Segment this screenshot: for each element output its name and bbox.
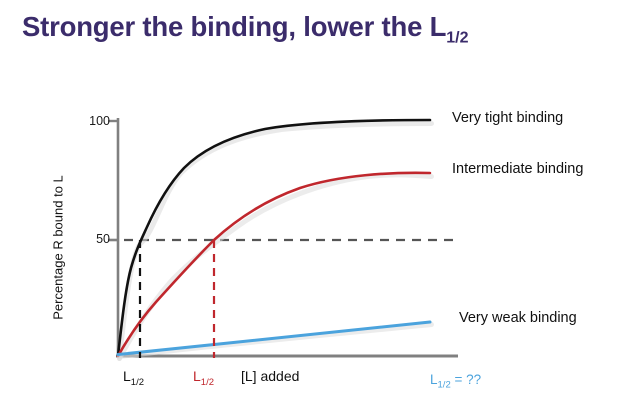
- weak-binding-curve: [118, 322, 430, 355]
- weak-binding-lhalf-subscript: 1/2: [438, 380, 451, 391]
- slide-canvas: Stronger the binding, lower the L1/2: [0, 0, 644, 414]
- intermediate-binding-lhalf-label: L1/2: [193, 368, 214, 388]
- x-axis-title: [L] added: [241, 368, 299, 384]
- weak-binding-lhalf-value: = ??: [451, 372, 481, 387]
- tight-binding-lhalf-label: L1/2: [123, 368, 144, 388]
- intermediate-binding-lhalf-subscript: 1/2: [201, 377, 214, 388]
- legend-label-very-weak-binding: Very weak binding: [459, 310, 577, 326]
- y-axis-tick-label-50: 50: [74, 232, 110, 246]
- tight-binding-lhalf-letter: L: [123, 368, 131, 384]
- y-axis-tick-label-100: 100: [74, 114, 110, 128]
- legend-label-intermediate-binding: Intermediate binding: [452, 161, 583, 177]
- y-axis-title: Percentage R bound to L: [51, 148, 66, 348]
- tight-binding-lhalf-subscript: 1/2: [131, 377, 144, 388]
- weak-binding-lhalf-label: L1/2 = ??: [430, 372, 481, 391]
- chart-plot-area: [0, 0, 644, 414]
- weak-binding-lhalf-letter: L: [430, 372, 438, 387]
- weak-binding-curve-shadow: [120, 325, 432, 357]
- intermediate-binding-lhalf-letter: L: [193, 368, 201, 384]
- tight-binding-curve: [118, 120, 430, 356]
- legend-label-very-tight-binding: Very tight binding: [452, 110, 563, 126]
- binding-curve-chart: 100 50 Percentage R bound to L [L] added…: [0, 0, 644, 414]
